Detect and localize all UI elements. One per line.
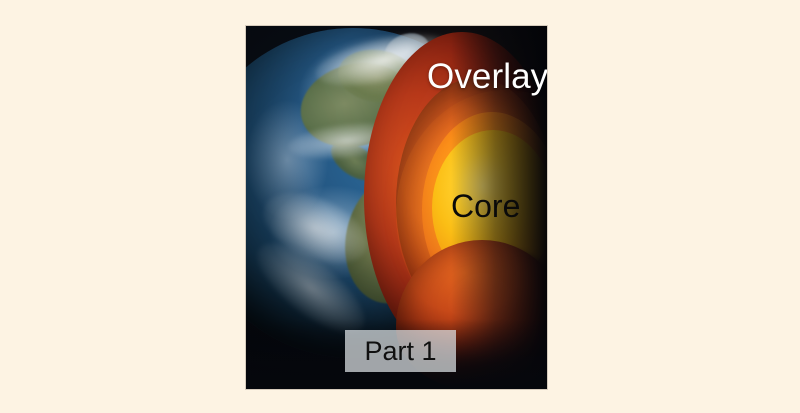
page-canvas: Overlay Core Part 1 — [0, 0, 800, 413]
earth-cutaway-image: Overlay Core Part 1 — [246, 26, 547, 389]
core-label-text: Core — [451, 190, 520, 222]
part-badge-label: Part 1 — [364, 338, 436, 365]
part-badge: Part 1 — [345, 330, 456, 372]
overlay-title-text: Overlay — [427, 59, 547, 94]
